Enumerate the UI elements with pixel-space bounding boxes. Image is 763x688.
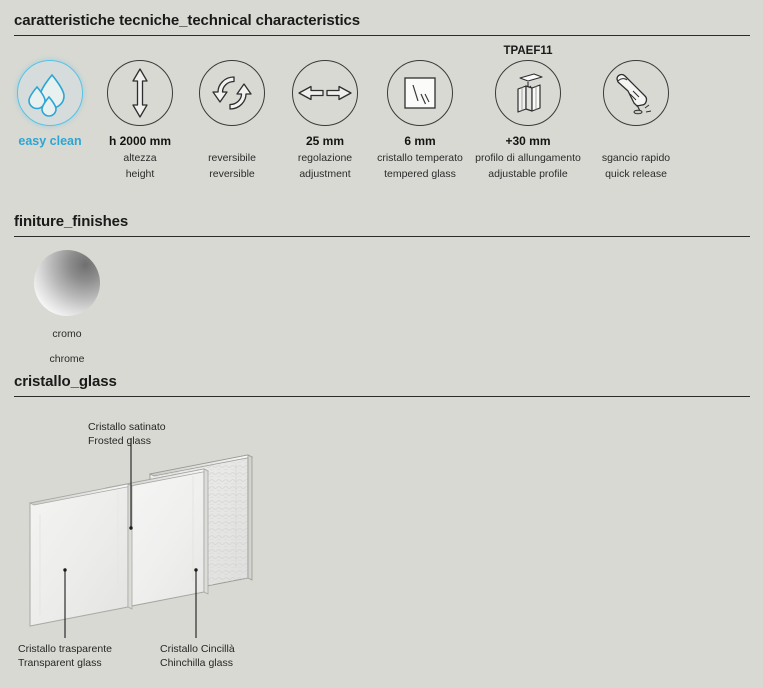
- extension-profile-icon: [495, 60, 561, 126]
- section-divider-finishes: [14, 236, 750, 237]
- spec-code-tpaef11: TPAEF11: [474, 44, 582, 58]
- technical-specs-row: easy clean h 2000 mm altezza height: [0, 44, 763, 184]
- spec-desc-it: cristallo temperato: [366, 152, 474, 165]
- section-header-finishes: finiture_finishes: [14, 213, 750, 237]
- spec-desc-en: adjustable profile: [474, 168, 582, 181]
- finish-desc-en: chrome: [12, 353, 122, 366]
- callout-frosted-it: Cristallo satinato: [88, 421, 166, 435]
- spec-value: 25 mm: [271, 134, 379, 149]
- spec-desc-en: reversible: [178, 168, 286, 181]
- callout-frosted-en: Frosted glass: [88, 435, 166, 449]
- section-title-technical: caratteristiche tecniche_technical chara…: [14, 12, 750, 30]
- callout-label-frosted: Cristallo satinato Frosted glass: [88, 421, 166, 448]
- glass-panel-transparent: [30, 484, 132, 626]
- spec-item-quick-release: sgancio rapido quick release: [582, 44, 690, 181]
- spec-item-adjustment: 25 mm regolazione adjustment: [271, 44, 379, 181]
- spec-code: [366, 44, 474, 58]
- callout-transparent-en: Transparent glass: [18, 657, 112, 671]
- horizontal-double-arrow-icon: [292, 60, 358, 126]
- spec-value: 6 mm: [366, 134, 474, 149]
- spec-item-reversible: reversibile reversible: [178, 44, 286, 181]
- spec-sheet-page: caratteristiche tecniche_technical chara…: [0, 0, 763, 688]
- spec-code: [582, 44, 690, 58]
- finish-item-chrome: cromo chrome: [12, 250, 122, 366]
- callout-label-transparent: Cristallo trasparente Transparent glass: [18, 643, 112, 670]
- chrome-sphere-icon: [34, 250, 100, 316]
- spec-desc-en: tempered glass: [366, 168, 474, 181]
- spec-desc-en: quick release: [582, 168, 690, 181]
- section-title-glass: cristallo_glass: [14, 373, 750, 391]
- vertical-double-arrow-icon: [107, 60, 173, 126]
- section-divider-glass: [14, 396, 750, 397]
- spec-value: +30 mm: [474, 134, 582, 149]
- spec-desc-en: adjustment: [271, 168, 379, 181]
- rotation-arrows-icon: [199, 60, 265, 126]
- spec-value: [178, 134, 286, 149]
- section-title-finishes: finiture_finishes: [14, 213, 750, 231]
- callout-chinchilla-en: Chinchilla glass: [160, 657, 235, 671]
- spec-desc-it: regolazione: [271, 152, 379, 165]
- spec-desc-it: reversibile: [178, 152, 286, 165]
- callout-chinchilla-it: Cristallo Cincillà: [160, 643, 235, 657]
- water-drops-icon: [17, 60, 83, 126]
- spec-desc-it: sgancio rapido: [582, 152, 690, 165]
- spec-code: [178, 44, 286, 58]
- glass-pane-icon: [387, 60, 453, 126]
- section-divider-technical: [14, 35, 750, 36]
- spec-code: [271, 44, 379, 58]
- spec-item-tempered-glass: 6 mm cristallo temperato tempered glass: [366, 44, 474, 181]
- section-header-glass: cristallo_glass: [14, 373, 750, 397]
- callout-transparent-it: Cristallo trasparente: [18, 643, 112, 657]
- hand-press-icon: [603, 60, 669, 126]
- finish-desc-it: cromo: [12, 328, 122, 341]
- spec-value: [582, 134, 690, 149]
- callout-label-chinchilla: Cristallo Cincillà Chinchilla glass: [160, 643, 235, 670]
- spec-desc-it: profilo di allungamento: [474, 152, 582, 165]
- section-header-technical: caratteristiche tecniche_technical chara…: [14, 12, 750, 36]
- spec-item-adjustable-profile: TPAEF11 +30 mm profilo di allungamento a…: [474, 44, 582, 181]
